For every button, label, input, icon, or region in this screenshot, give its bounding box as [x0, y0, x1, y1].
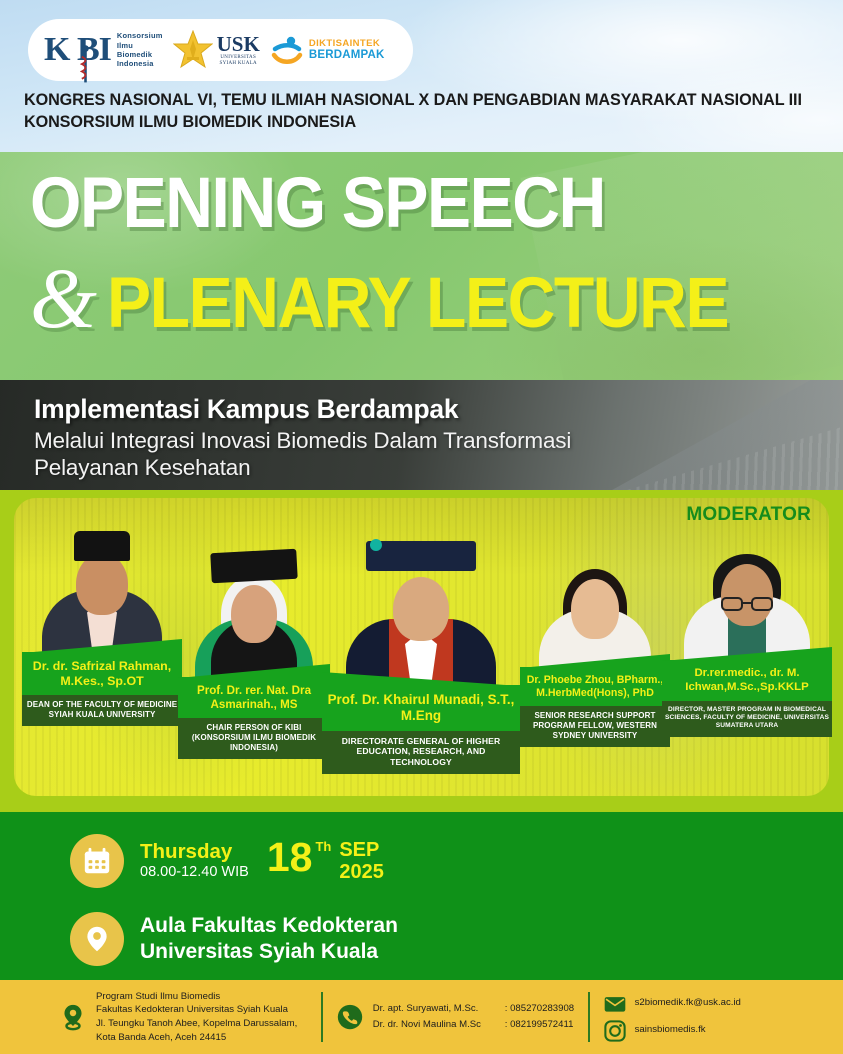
- venue-line-1: Aula Fakultas Kedokteran: [140, 913, 398, 939]
- headline-second-row: & PLENARY LECTURE: [30, 262, 775, 335]
- event-poster: K BI Konsorsium Ilmu Biomedik Indonesia: [0, 0, 843, 1054]
- speaker-name-4: Dr. Phoebe Zhou, BPharm., M.HerbMed(Hons…: [520, 667, 670, 706]
- location-icon-badge: [70, 912, 124, 966]
- speaker-card-3[interactable]: Prof. Dr. Khairul Munadi, S.T., M.Eng DI…: [322, 535, 520, 774]
- diktisaintek-logo: DIKTISAINTEK BERDAMPAK: [270, 33, 385, 67]
- theme-title: Implementasi Kampus Berdampak: [34, 394, 458, 425]
- usk-star-icon: [173, 30, 213, 70]
- weekday-time: Thursday 08.00-12.40 WIB: [140, 841, 249, 881]
- kibi-mark: K BI: [44, 33, 111, 67]
- footer-divider-1: [321, 992, 323, 1042]
- diktisaintek-line2: BERDAMPAK: [309, 49, 385, 61]
- headline-plenary-lecture: PLENARY LECTURE: [107, 268, 728, 339]
- speaker-name-1: Dr. dr. Safrizal Rahman, M.Kes., Sp.OT: [22, 652, 182, 695]
- usk-abbr: USK: [217, 34, 260, 55]
- email-address: s2biomedik.fk@usk.ac.id: [635, 998, 741, 1009]
- usk-wordmark: USK UNIVERSITAS SYIAH KUALA: [217, 34, 260, 67]
- kibi-wordmark: Konsorsium Ilmu Biomedik Indonesia: [117, 31, 163, 69]
- instagram-icon: [604, 1020, 626, 1042]
- email-row[interactable]: s2biomedik.fk@usk.ac.id: [604, 993, 741, 1015]
- subtitle-band: Implementasi Kampus Berdampak Melalui In…: [0, 380, 843, 490]
- kibi-word-3: Biomedik: [117, 50, 163, 59]
- speaker-photo-4: [520, 545, 670, 667]
- instagram-handle: sainsbiomedis.fk: [635, 1025, 706, 1036]
- contact-phone-2: 082199572411: [510, 1019, 573, 1030]
- venue-row: Aula Fakultas Kedokteran Universitas Syi…: [70, 912, 398, 966]
- date-block: Thursday 08.00-12.40 WIB 18 Th SEP 2025: [140, 839, 384, 884]
- date-numeric: 18 Th SEP 2025: [267, 839, 384, 884]
- diktisaintek-wordmark: DIKTISAINTEK BERDAMPAK: [309, 39, 385, 61]
- theme-subtitle: Melalui Integrasi Inovasi Biomedis Dalam…: [34, 427, 734, 482]
- month: SEP: [339, 839, 384, 861]
- calendar-icon-badge: [70, 834, 124, 888]
- year: 2025: [339, 861, 384, 883]
- speaker-photo-2: [179, 545, 329, 677]
- contact-row-1: Dr. apt. Suryawati, M.Sc.: 085270283908: [373, 1001, 574, 1017]
- diktisaintek-swoosh-icon: [270, 33, 304, 67]
- address-line-2: Fakultas Kedokteran Universitas Syiah Ku…: [96, 1003, 297, 1017]
- day-suffix: Th: [315, 839, 331, 854]
- theme-subtitle-line2: Pelayanan Kesehatan: [34, 454, 734, 481]
- footer-social-block: s2biomedik.fk@usk.ac.id sainsbiomedis.fk: [604, 988, 741, 1047]
- usk-line2: SYIAH KUALA: [220, 61, 257, 67]
- address-line-1: Program Studi Ilmu Biomedis: [96, 990, 297, 1004]
- contact-row-2: Dr. dr. Novi Maulina M.Sc: 082199572411: [373, 1017, 574, 1033]
- moderator-name: Dr.rer.medic., dr. M. Ichwan,M.Sc.,Sp.KK…: [662, 660, 832, 701]
- venue-block: Aula Fakultas Kedokteran Universitas Syi…: [140, 913, 398, 965]
- usk-logo: USK UNIVERSITAS SYIAH KUALA: [173, 30, 260, 70]
- footer-address-block: Program Studi Ilmu Biomedis Fakultas Ked…: [60, 990, 297, 1044]
- contact-phone-1: 085270283908: [510, 1003, 574, 1014]
- ampersand-glyph: &: [30, 262, 97, 335]
- speaker-name-2: Prof. Dr. rer. Nat. Dra Asmarinah., MS: [178, 677, 330, 718]
- kibi-word-2: Ilmu: [117, 41, 163, 50]
- contact-name-2: Dr. dr. Novi Maulina M.Sc: [373, 1017, 505, 1033]
- poster-footer: Program Studi Ilmu Biomedis Fakultas Ked…: [0, 980, 843, 1054]
- moderator-card[interactable]: Dr.rer.medic., dr. M. Ichwan,M.Sc.,Sp.KK…: [662, 528, 832, 737]
- moderator-label: MODERATOR: [686, 504, 811, 526]
- kibi-word-1: Konsorsium: [117, 31, 163, 40]
- diktisaintek-line1: DIKTISAINTEK: [309, 39, 385, 49]
- day-of-week: Thursday: [140, 841, 249, 864]
- moderator-affiliation: DIRECTOR, MASTER PROGRAM IN BIOMEDICAL S…: [662, 701, 832, 737]
- speaker-affiliation-2: CHAIR PERSON OF KIBI (KONSORSIUM ILMU BI…: [178, 718, 330, 759]
- poster-header: K BI Konsorsium Ilmu Biomedik Indonesia: [0, 0, 843, 152]
- theme-subtitle-line1: Melalui Integrasi Inovasi Biomedis Dalam…: [34, 427, 734, 454]
- calendar-icon: [82, 846, 112, 876]
- speaker-card-1[interactable]: Dr. dr. Safrizal Rahman, M.Kes., Sp.OT D…: [22, 525, 182, 726]
- moderator-photo: [672, 528, 822, 660]
- graduation-cap-icon: [366, 541, 476, 571]
- congress-title: KONGRES NASIONAL VI, TEMU ILMIAH NASIONA…: [24, 90, 814, 134]
- venue-line-2: Universitas Syiah Kuala: [140, 939, 398, 965]
- address-line-3: Jl. Teungku Tanoh Abee, Kopelma Darussal…: [96, 1017, 297, 1031]
- graduation-cap-icon: [210, 549, 297, 583]
- footer-divider-2: [588, 992, 590, 1042]
- map-pin-icon: [83, 925, 111, 953]
- speaker-photo-3: [346, 535, 496, 685]
- contact-name-1: Dr. apt. Suryawati, M.Sc.: [373, 1001, 505, 1017]
- kibi-logo: K BI Konsorsium Ilmu Biomedik Indonesia: [44, 31, 163, 69]
- speakers-section: MODERATOR Dr. dr. Safrizal Rahman, M.Kes…: [0, 490, 843, 812]
- date-time-row: Thursday 08.00-12.40 WIB 18 Th SEP 2025: [70, 834, 384, 888]
- speaker-affiliation-3: DIRECTORATE GENERAL OF HIGHER EDUCATION,…: [322, 731, 520, 774]
- footer-address: Program Studi Ilmu Biomedis Fakultas Ked…: [96, 990, 297, 1044]
- speaker-photo-1: [27, 525, 177, 652]
- kibi-word-4: Indonesia: [117, 59, 163, 68]
- address-line-4: Kota Banda Aceh, Aceh 24415: [96, 1031, 297, 1045]
- phone-icon: [337, 1004, 363, 1030]
- footer-phone-block: Dr. apt. Suryawati, M.Sc.: 085270283908 …: [337, 1001, 574, 1032]
- hero-banner: OPENING SPEECH & PLENARY LECTURE: [0, 152, 843, 380]
- instagram-row[interactable]: sainsbiomedis.fk: [604, 1020, 741, 1042]
- logo-bar: K BI Konsorsium Ilmu Biomedik Indonesia: [28, 19, 413, 81]
- envelope-icon: [604, 993, 626, 1015]
- day-number: 18: [267, 839, 313, 877]
- speaker-name-3: Prof. Dr. Khairul Munadi, S.T., M.Eng: [322, 685, 520, 731]
- speaker-card-4[interactable]: Dr. Phoebe Zhou, BPharm., M.HerbMed(Hons…: [520, 545, 670, 747]
- event-details-section: Thursday 08.00-12.40 WIB 18 Th SEP 2025: [0, 812, 843, 980]
- speaker-card-2[interactable]: Prof. Dr. rer. Nat. Dra Asmarinah., MS C…: [178, 545, 330, 759]
- footer-contacts: Dr. apt. Suryawati, M.Sc.: 085270283908 …: [373, 1001, 574, 1032]
- songkok-icon: [74, 531, 130, 561]
- caduceus-icon: [80, 43, 91, 87]
- map-pin-icon: [60, 1002, 86, 1032]
- headline-opening-speech: OPENING SPEECH: [30, 168, 605, 239]
- event-time: 08.00-12.40 WIB: [140, 864, 249, 881]
- speaker-affiliation-1: DEAN OF THE FACULTY OF MEDICINE SYIAH KU…: [22, 695, 182, 726]
- glasses-icon: [720, 596, 774, 612]
- speaker-affiliation-4: SENIOR RESEARCH SUPPORT PROGRAM FELLOW, …: [520, 706, 670, 747]
